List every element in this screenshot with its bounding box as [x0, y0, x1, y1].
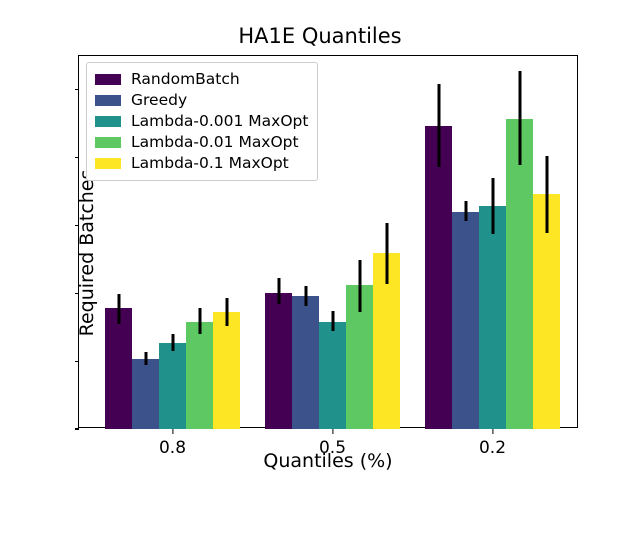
x-tick-mark: [492, 429, 493, 434]
bar: [186, 322, 213, 429]
legend: RandomBatchGreedyLambda-0.001 MaxOptLamb…: [86, 62, 318, 181]
error-bar: [385, 223, 388, 284]
error-bar: [545, 156, 548, 233]
bar: [506, 119, 533, 429]
bar: [452, 212, 479, 429]
error-bar: [304, 286, 307, 305]
bar: [132, 359, 159, 429]
legend-item[interactable]: Greedy: [95, 90, 308, 111]
x-axis-label: Quantiles (%): [78, 450, 578, 472]
x-tick-mark: [172, 429, 173, 434]
x-tick-mark: [332, 429, 333, 434]
error-bar: [117, 294, 120, 324]
bar: [292, 296, 319, 429]
bar: [425, 126, 452, 429]
figure: HA1E Quantiles 02468100.80.50.2 Required…: [0, 0, 640, 480]
legend-swatch-icon: [95, 158, 121, 169]
error-bar: [171, 334, 174, 350]
bar: [213, 312, 240, 429]
legend-item[interactable]: Lambda-0.01 MaxOpt: [95, 132, 308, 153]
legend-label: Lambda-0.01 MaxOpt: [131, 135, 299, 151]
legend-swatch-icon: [95, 95, 121, 106]
legend-label: Lambda-0.001 MaxOpt: [131, 114, 308, 130]
error-bar: [491, 178, 494, 234]
bar: [265, 293, 292, 429]
bar: [159, 343, 186, 429]
error-bar: [358, 260, 361, 312]
bar: [479, 206, 506, 429]
error-bar: [437, 84, 440, 167]
error-bar: [464, 201, 467, 221]
legend-label: RandomBatch: [131, 72, 240, 88]
error-bar: [144, 352, 147, 365]
bar: [319, 322, 346, 429]
legend-swatch-icon: [95, 116, 121, 127]
legend-item[interactable]: Lambda-0.1 MaxOpt: [95, 153, 308, 174]
error-bar: [225, 298, 228, 326]
legend-item[interactable]: Lambda-0.001 MaxOpt: [95, 111, 308, 132]
error-bar: [277, 278, 280, 303]
error-bar: [518, 71, 521, 165]
legend-item[interactable]: RandomBatch: [95, 69, 308, 90]
error-bar: [198, 308, 201, 334]
error-bar: [331, 311, 334, 331]
legend-swatch-icon: [95, 74, 121, 85]
bar: [105, 308, 132, 429]
legend-label: Greedy: [131, 93, 187, 109]
legend-swatch-icon: [95, 137, 121, 148]
legend-label: Lambda-0.1 MaxOpt: [131, 156, 289, 172]
